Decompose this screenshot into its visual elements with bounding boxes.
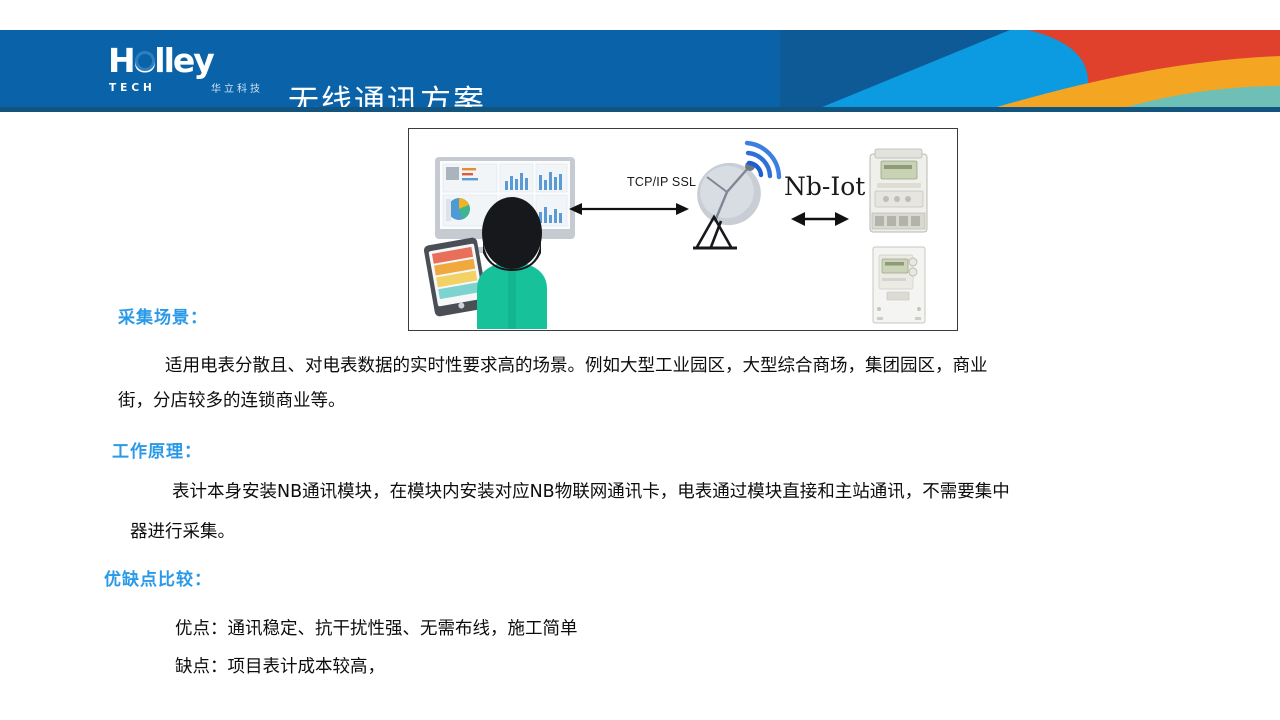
page-header: Holley TECH 华立科技 无线通讯方案 [0, 30, 1280, 112]
link-tcpip-ssl: TCP/IP SSL [569, 175, 696, 215]
link-nbiot: Nb-Iot [784, 172, 865, 226]
heading-collection-scene: 采集场景： [118, 303, 208, 328]
holley-logo: Holley TECH 华立科技 [108, 44, 263, 98]
heading-pros-cons: 优缺点比较： [104, 565, 212, 590]
workstation-node [423, 157, 575, 329]
scene-text-line-1: 适用电表分散且、对电表数据的实时性要求高的场景。例如大型工业园区，大型综合商场，… [165, 352, 988, 377]
header-decorative-swoosh [780, 30, 1280, 112]
logo-o-ring-icon [135, 51, 155, 71]
electricity-meter-top [870, 149, 927, 232]
logo-sub-en: TECH [109, 82, 156, 94]
logo-wordmark: Holley [108, 44, 213, 78]
satellite-dish-node [688, 143, 779, 248]
logo-mark: Holley [108, 44, 263, 78]
logo-sub-cn: 华立科技 [211, 80, 263, 95]
scene-text-line-2: 街，分店较多的连锁商业等。 [118, 387, 346, 412]
heading-working-principle: 工作原理： [112, 437, 202, 462]
principle-text-line-2: 器进行采集。 [130, 518, 235, 543]
architecture-diagram: TCP/IP SSL Nb-Iot [408, 128, 958, 331]
diagram-canvas: TCP/IP SSL Nb-Iot [409, 129, 956, 329]
principle-text-line-1: 表计本身安装NB通讯模块，在模块内安装对应NB物联网通讯卡，电表通过模块直接和主… [172, 478, 1010, 503]
cons-text-line: 缺点：项目表计成本较高， [175, 653, 385, 678]
pros-text-line: 优点：通讯稳定、抗干扰性强、无需布线，施工简单 [175, 615, 578, 640]
electricity-meter-bottom [873, 247, 925, 323]
svg-text:TCP/IP SSL: TCP/IP SSL [627, 175, 696, 189]
logo-subtitle: TECH 华立科技 [109, 80, 263, 95]
header-bottom-strip [0, 107, 1280, 112]
svg-text:Nb-Iot: Nb-Iot [784, 172, 865, 201]
